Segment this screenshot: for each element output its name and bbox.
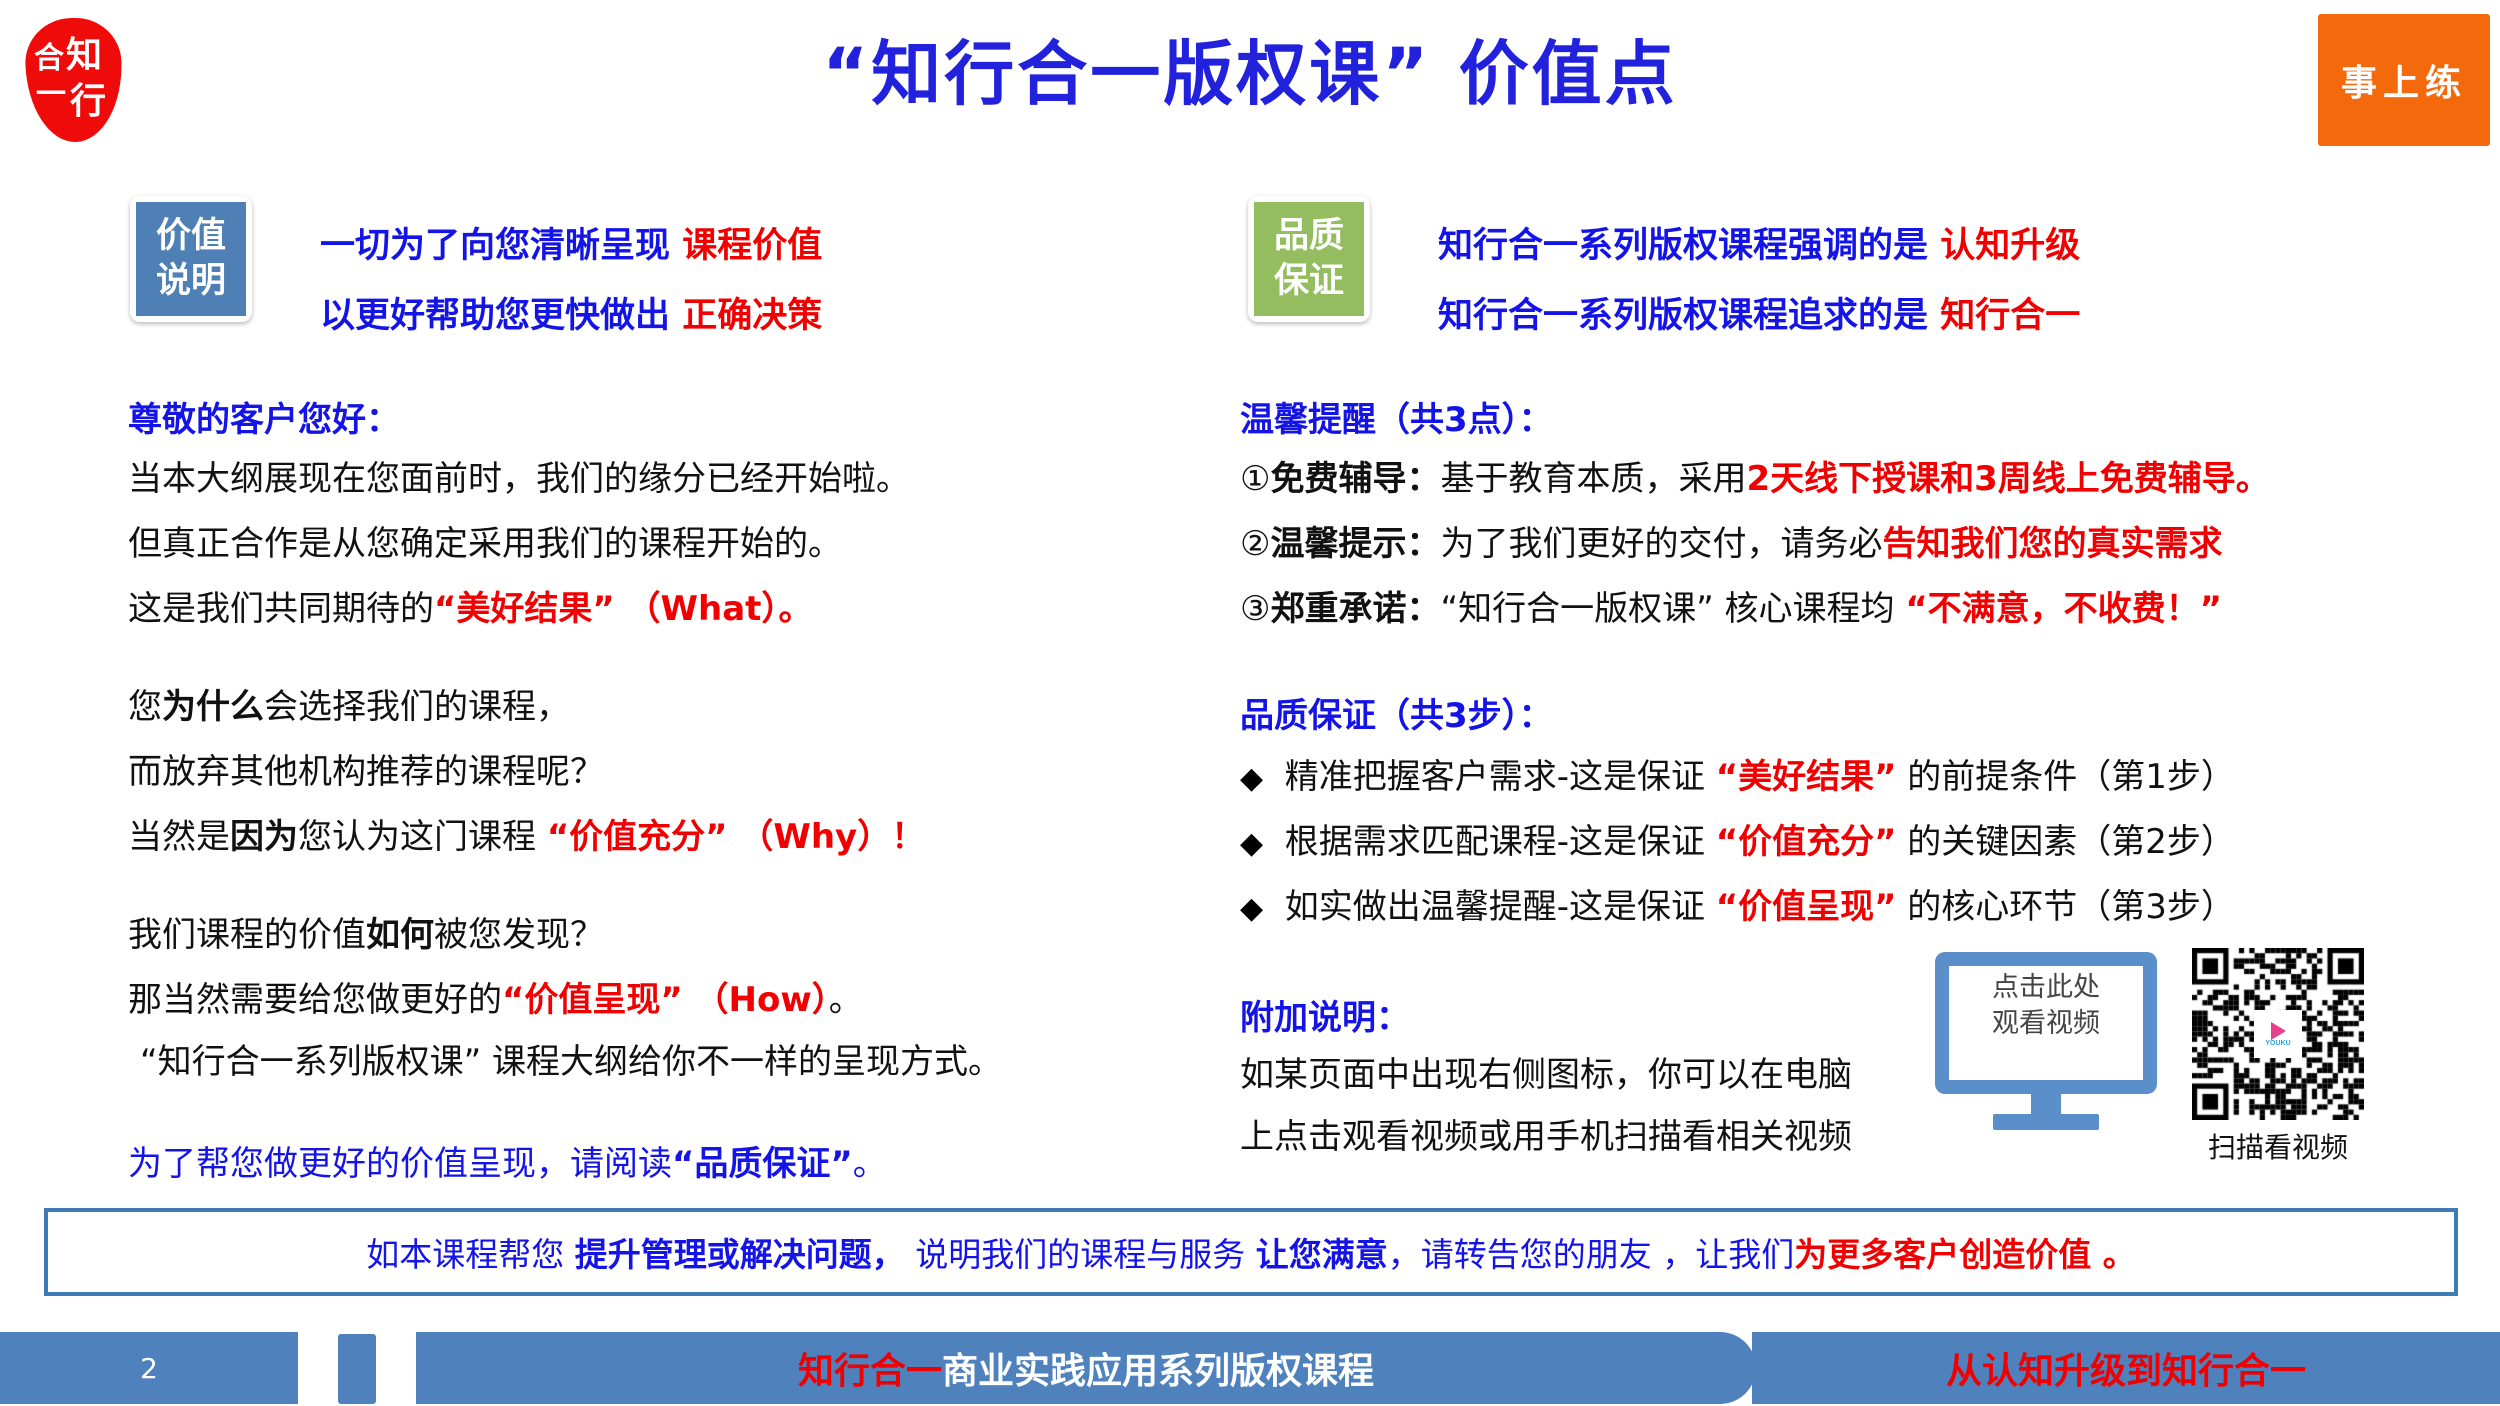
value-chip-text-line2: 以更好帮助您更快做出 正确决策 — [320, 288, 822, 345]
para2-line3-c: 您认为这门课程 — [298, 817, 547, 857]
left-para2-line1: 您为什么会选择我们的课程， — [128, 690, 570, 724]
quality-line1-highlight: 认知升级 — [1940, 226, 2080, 266]
para2-line1-b: 为什么 — [162, 687, 264, 727]
step-1-highlight: “美好结果” — [1716, 757, 1897, 797]
value-description-chip: 价值 说明 — [130, 196, 252, 322]
slide: 合 知 一 行 “知行合一版权课” 价值点 事上练 价值 说明 一切为了向您清晰… — [0, 0, 2500, 1406]
step-3-post: 的核心环节（第3步） — [1896, 887, 2234, 927]
youku-logo-icon: YOUKU — [2254, 1010, 2302, 1058]
callout-b2: 让您满意 — [1256, 1235, 1388, 1274]
monitor-line2: 观看视频 — [1935, 1006, 2157, 1042]
tip-item-1: ①免费辅导：基于教育本质，采用2天线下授课和3周线上免费辅导。 — [1240, 462, 2270, 496]
left-para1-line3: 这是我们共同期待的“美好结果” （What）。 — [128, 592, 812, 626]
shishanglian-badge: 事上练 — [2318, 14, 2490, 146]
step-3-highlight: “价值呈现” — [1716, 887, 1897, 927]
quality-step-1: ◆ 精准把握客户需求-这是保证 “美好结果” 的前提条件（第1步） — [1240, 760, 2235, 794]
youku-label: YOUKU — [2265, 1040, 2290, 1047]
tip-1-highlight: 2天线下授课和3周线上免费辅导。 — [1746, 459, 2269, 499]
closing-b: “品质保证” — [672, 1144, 853, 1184]
para2-line1-c: 会选择我们的课程， — [264, 687, 570, 727]
footer-main-white: 商业实践应用系列版权课程 — [942, 1342, 1374, 1394]
left-para3-line2: 那当然需要给您做更好的“价值呈现” （How）。 — [128, 983, 863, 1017]
quality-chip-text-line1: 知行合一系列版权课程强调的是 认知升级 — [1438, 218, 2080, 275]
step-1-post: 的前提条件（第1步） — [1896, 757, 2234, 797]
tip-2-num: ② — [1240, 524, 1270, 564]
quality-step-3: ◆ 如实做出温馨提醒-这是保证 “价值呈现” 的核心环节（第3步） — [1240, 890, 2235, 924]
diamond-bullet-icon: ◆ — [1240, 761, 1263, 796]
para1-line3-highlight: “美好结果” （What） — [434, 589, 778, 629]
para2-line1-a: 您 — [128, 687, 162, 727]
value-chip-text-line1: 一切为了向您清晰呈现 课程价值 — [320, 218, 822, 275]
tip-3-num: ③ — [1240, 589, 1270, 629]
left-para3-line3: “知行合一系列版权课” 课程大纲给你不一样的呈现方式。 — [140, 1045, 1002, 1079]
monitor-line1: 点击此处 — [1935, 970, 2157, 1006]
monitor-stand-base — [1993, 1114, 2099, 1130]
left-para3-line1: 我们课程的价值如何被您发现？ — [128, 918, 604, 952]
qr-code-label: 扫描看视频 — [2192, 1126, 2364, 1166]
footer-right-banner: 从认知升级到知行合一 — [1752, 1332, 2500, 1404]
footer-divider-tick — [338, 1334, 376, 1404]
play-triangle-icon — [2271, 1022, 2286, 1040]
qr-code-block[interactable]: YOUKU 扫描看视频 — [2192, 948, 2364, 1166]
step-1-pre: 精准把握客户需求-这是保证 — [1285, 757, 1716, 797]
tip-item-3: ③郑重承诺：“知行合一版权课” 核心课程均 “不满意，不收费！” — [1240, 592, 2222, 626]
value-line1-highlight: 课程价值 — [682, 226, 822, 266]
left-para2-line3: 当然是因为您认为这门课程 “价值充分” （Why）！ — [128, 820, 925, 854]
callout-r1: 为更多客户创造价值 。 — [1794, 1235, 2136, 1274]
para1-line3-prefix: 这是我们共同期待的 — [128, 589, 434, 629]
diamond-bullet-icon: ◆ — [1240, 891, 1263, 926]
quality-steps-heading: 品质保证（共3步）： — [1240, 688, 1553, 737]
tip-3-label: 郑重承诺： — [1270, 589, 1440, 629]
para3-line2-highlight: “价值呈现” （How） — [502, 980, 829, 1020]
para3-line1-a: 我们课程的价值 — [128, 915, 366, 955]
callout-p1: 如本课程帮您 — [366, 1235, 575, 1274]
step-2-pre: 根据需求匹配课程-这是保证 — [1285, 822, 1716, 862]
bottom-callout-box: 如本课程帮您 提升管理或解决问题， 说明我们的课程与服务 让您满意，请转告您的朋… — [44, 1208, 2458, 1296]
step-2-highlight: “价值充分” — [1716, 822, 1897, 862]
left-closing-line: 为了帮您做更好的价值呈现，请阅读“品质保证”。 — [128, 1136, 887, 1185]
para3-line1-c: 被您发现？ — [434, 915, 604, 955]
left-para1-line1: 当本大纲展现在您面前时，我们的缘分已经开始啦。 — [128, 462, 910, 496]
footer-main-banner: 知行合一商业实践应用系列版权课程 — [416, 1332, 1756, 1404]
monitor-stand-neck — [2031, 1094, 2061, 1116]
value-chip-line2: 说明 — [156, 259, 226, 304]
quality-chip-line2: 保证 — [1274, 259, 1344, 304]
tip-2-highlight: 告知我们您的真实需求 — [1882, 524, 2222, 564]
step-2-post: 的关键因素（第2步） — [1896, 822, 2234, 862]
tip-1-num: ① — [1240, 459, 1270, 499]
quality-line2-highlight: 知行合一 — [1940, 296, 2080, 336]
extra-notes-line1: 如某页面中出现右侧图标，你可以在电脑 — [1240, 1058, 1852, 1092]
tip-1-label: 免费辅导： — [1270, 459, 1440, 499]
tip-2-body: 为了我们更好的交付，请务必 — [1440, 524, 1882, 564]
diamond-bullet-icon: ◆ — [1240, 826, 1263, 861]
page-title: “知行合一版权课” 价值点 — [0, 18, 2500, 119]
para3-line2-c: 。 — [829, 980, 863, 1020]
tip-2-label: 温馨提示： — [1270, 524, 1440, 564]
bottom-callout-text: 如本课程帮您 提升管理或解决问题， 说明我们的课程与服务 让您满意，请转告您的朋… — [366, 1228, 2135, 1276]
callout-p3: ，请转告您的朋友 ，让我们 — [1388, 1235, 1795, 1274]
para2-line3-highlight: “价值充分” （Why）！ — [547, 817, 925, 857]
quality-line2-plain: 知行合一系列版权课程追求的是 — [1438, 296, 1940, 336]
step-3-pre: 如实做出温馨提醒-这是保证 — [1285, 887, 1716, 927]
closing-a: 为了帮您做更好的价值呈现，请阅读 — [128, 1144, 672, 1184]
tip-item-2: ②温馨提示：为了我们更好的交付，请务必告知我们您的真实需求 — [1240, 527, 2222, 561]
value-line2-highlight: 正确决策 — [682, 296, 822, 336]
callout-b1: 提升管理或解决问题， — [575, 1235, 905, 1274]
left-para1-line2: 但真正合作是从您确定采用我们的课程开始的。 — [128, 527, 842, 561]
value-line2-plain: 以更好帮助您更快做出 — [320, 296, 682, 336]
watch-video-monitor-icon[interactable]: 点击此处 观看视频 — [1935, 952, 2157, 1130]
para1-line3-suffix: 。 — [778, 589, 812, 629]
para2-line3-a: 当然是 — [128, 817, 230, 857]
extra-notes-line2: 上点击观看视频或用手机扫描看相关视频 — [1240, 1120, 1852, 1154]
quality-guarantee-chip: 品质 保证 — [1248, 196, 1370, 322]
value-chip-line1: 价值 — [156, 214, 226, 259]
quality-line1-plain: 知行合一系列版权课程强调的是 — [1438, 226, 1940, 266]
left-para2-line2: 而放弃其他机构推荐的课程呢？ — [128, 755, 604, 789]
greeting-heading: 尊敬的客户您好： — [128, 392, 400, 441]
extra-notes-heading: 附加说明： — [1240, 990, 1410, 1039]
qr-code-icon[interactable]: YOUKU — [2192, 948, 2364, 1120]
value-line1-plain: 一切为了向您清晰呈现 — [320, 226, 682, 266]
para3-line1-b: 如何 — [366, 915, 434, 955]
monitor-screen-text: 点击此处 观看视频 — [1935, 970, 2157, 1043]
callout-p2: 说明我们的课程与服务 — [905, 1235, 1256, 1274]
quality-chip-text-line2: 知行合一系列版权课程追求的是 知行合一 — [1438, 288, 2080, 345]
tip-1-body: 基于教育本质，采用 — [1440, 459, 1746, 499]
footer-bar: 2 知行合一商业实践应用系列版权课程 从认知升级到知行合一 — [0, 1332, 2500, 1406]
closing-c: 。 — [853, 1144, 887, 1184]
page-number: 2 — [0, 1332, 298, 1404]
quality-chip-line1: 品质 — [1274, 214, 1344, 259]
tip-3-highlight: “不满意，不收费！” — [1905, 589, 2222, 629]
tip-3-body: “知行合一版权课” 核心课程均 — [1440, 589, 1905, 629]
tips-heading: 温馨提醒（共3点）： — [1240, 392, 1553, 441]
footer-main-red: 知行合一 — [798, 1342, 942, 1394]
quality-step-2: ◆ 根据需求匹配课程-这是保证 “价值充分” 的关键因素（第2步） — [1240, 825, 2235, 859]
para3-line2-a: 那当然需要给您做更好的 — [128, 980, 502, 1020]
para2-line3-b: 因为 — [230, 817, 298, 857]
